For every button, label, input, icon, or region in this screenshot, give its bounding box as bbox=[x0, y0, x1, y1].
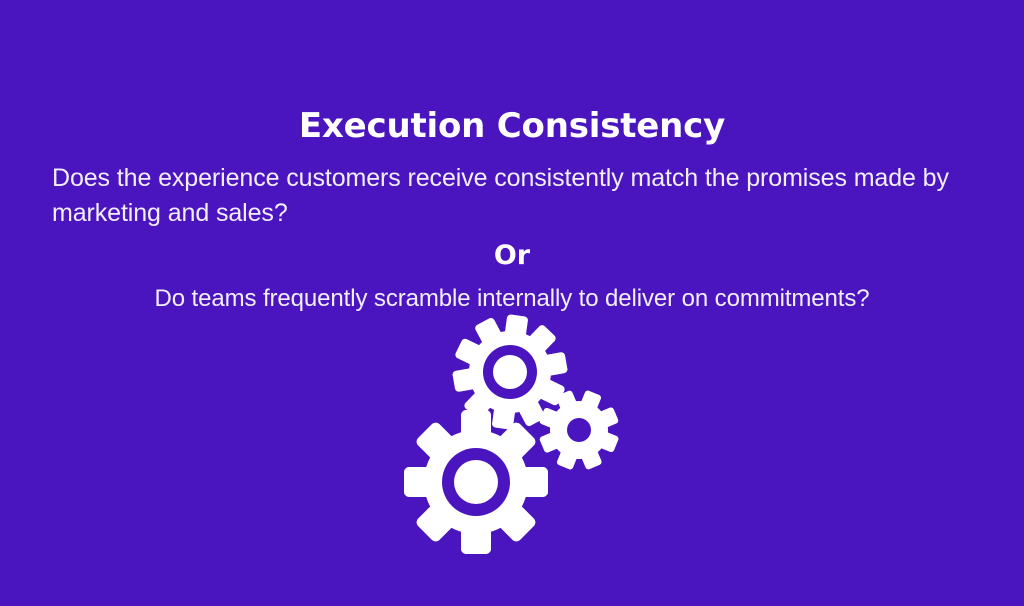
gears-svg bbox=[390, 310, 640, 560]
gear-medium-hub bbox=[493, 355, 527, 389]
primary-question-block: Does the experience customers receive co… bbox=[52, 161, 972, 231]
or-divider-label: Or bbox=[0, 238, 1024, 274]
gear-large bbox=[404, 410, 548, 554]
slide-canvas: Execution Consistency Does the experienc… bbox=[0, 0, 1024, 606]
gear-small-hub-hole bbox=[567, 418, 591, 442]
gear-large-hub bbox=[454, 460, 498, 504]
gears-illustration bbox=[390, 310, 640, 560]
primary-question-text: Does the experience customers receive co… bbox=[52, 161, 972, 231]
page-title: Execution Consistency bbox=[0, 104, 1024, 148]
